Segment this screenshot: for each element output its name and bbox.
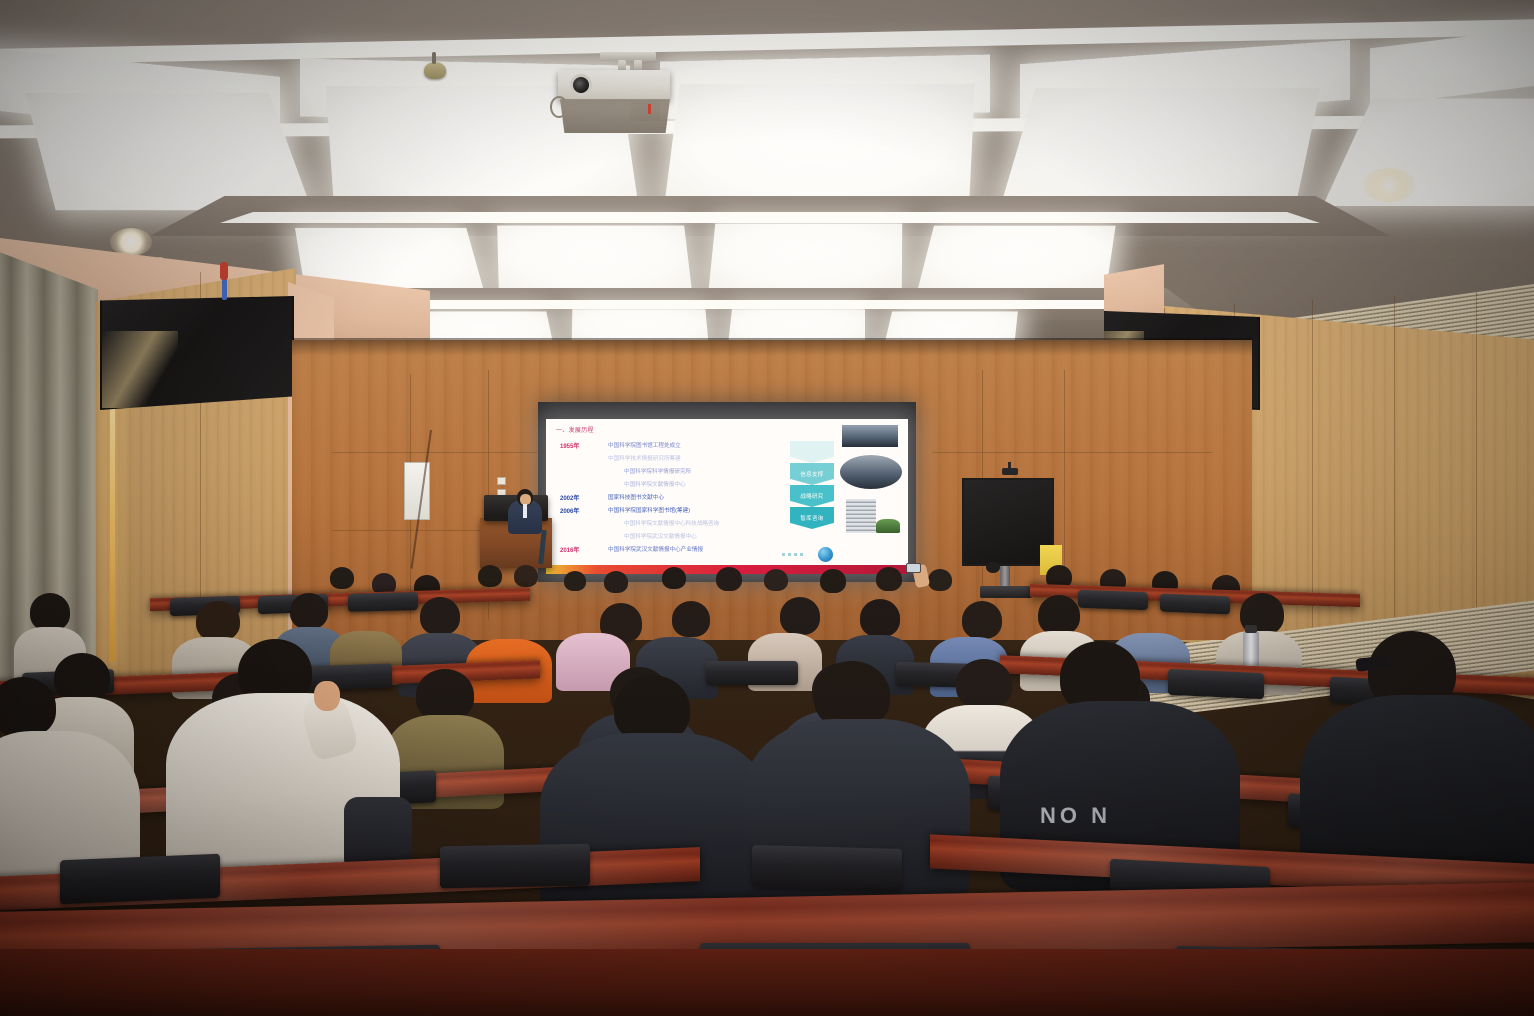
attendee-head — [196, 601, 240, 641]
projector-cable — [550, 96, 568, 118]
slide-photo-greenery — [876, 519, 900, 533]
slide-year: 2006年 — [560, 506, 579, 515]
attendee-hand — [314, 681, 340, 711]
foreground-desk-face — [0, 949, 1534, 1016]
thermos-cap — [1245, 625, 1257, 633]
attendee-head — [962, 601, 1002, 639]
wall-shadow — [292, 338, 1252, 356]
tv-cable-tag — [220, 262, 228, 280]
light-panel — [918, 226, 1116, 290]
attendee-head — [564, 571, 586, 591]
slide-photo-oval — [840, 455, 902, 489]
attendee-head — [416, 669, 474, 721]
cart-camera-stem — [1008, 462, 1011, 470]
attendee-head — [0, 677, 56, 737]
lecture-hall-scene: 一、发展历程 1955年 中国科学院图书馆工程处成立 中国科学技术情报研究所筹建… — [0, 0, 1534, 1016]
slide-chevron: 信息支撑 — [790, 463, 834, 485]
attendee-head — [956, 659, 1012, 709]
jacket-text-label: NO N — [1040, 803, 1132, 827]
attendee-head — [716, 567, 742, 591]
ceiling-band-inner — [370, 300, 1170, 309]
leather-seat-back — [1160, 594, 1230, 615]
slide-title: 一、发展历程 — [556, 425, 594, 434]
slide-entry-text: 中国科学技术情报研究所筹建 — [608, 454, 681, 462]
leather-seat-back — [348, 592, 418, 612]
presenter-shirt — [523, 504, 527, 518]
slide-year: 2002年 — [560, 493, 579, 502]
audience-seating-area: NO N NO N — [0, 545, 1534, 1016]
leather-seat-back — [1078, 590, 1148, 610]
smartphone-icon — [906, 563, 921, 573]
attendee-head — [604, 571, 628, 593]
attendee-head — [30, 593, 70, 631]
tv-cable — [222, 278, 227, 300]
attendee-head — [672, 601, 710, 637]
leather-seat-back — [752, 845, 902, 891]
slide-entry-text: 中国科学院科学情报研究所 — [624, 467, 691, 475]
attendee-head — [876, 567, 902, 591]
slide-entry-text: 中国科学院文献情报中心 — [624, 480, 686, 488]
attendee-head — [780, 597, 820, 635]
leather-seat-back — [60, 854, 220, 905]
slide-entry-text: 中国科学院武汉文献情报中心 — [624, 532, 697, 540]
leather-seat-back — [440, 844, 590, 889]
wall-mounted-tv-left[interactable] — [100, 296, 294, 410]
attendee-head — [290, 593, 328, 629]
slide-entry-text: 中国科学院图书馆工程处成立 — [608, 441, 681, 449]
attendee-head — [820, 569, 846, 593]
attendee-head — [928, 569, 952, 591]
slide-chevron — [790, 441, 834, 463]
attendee-head — [420, 597, 460, 635]
light-panel — [497, 226, 692, 292]
wall-outlet[interactable] — [497, 477, 506, 485]
projector-indicator — [648, 104, 651, 114]
leather-seat-back — [300, 663, 392, 690]
slide-entry-text: 中国科学院文献情报中心科技战略咨询 — [624, 519, 719, 527]
attendee-head — [1038, 595, 1080, 635]
attendee-head — [478, 565, 502, 587]
slide-photo-building — [846, 499, 876, 533]
slide-year: 1955年 — [560, 441, 579, 450]
slide-photo — [842, 425, 898, 447]
attendee-head — [330, 567, 354, 589]
projector-mount — [600, 52, 656, 61]
slide-entry-text: 国家科技图书文献中心 — [608, 493, 664, 501]
leather-seat-back — [1168, 669, 1264, 699]
leather-seat-back — [706, 661, 798, 685]
attendee-head — [764, 569, 788, 591]
projector-underside — [560, 99, 670, 133]
light-panel — [664, 84, 975, 208]
light-panel — [709, 224, 903, 290]
projector-lens-icon — [570, 74, 592, 96]
attendee-head — [514, 565, 538, 587]
slide-chevron: 战略研究 — [790, 485, 834, 507]
attendee-head — [860, 599, 900, 637]
slide-chevron: 智库咨询 — [790, 507, 834, 529]
attendee-head — [662, 567, 686, 589]
slide-entry-text: 中国科学院国家科学图书馆(筹建) — [608, 506, 690, 514]
sprinkler-icon — [432, 52, 436, 64]
attendee-head — [54, 653, 110, 703]
